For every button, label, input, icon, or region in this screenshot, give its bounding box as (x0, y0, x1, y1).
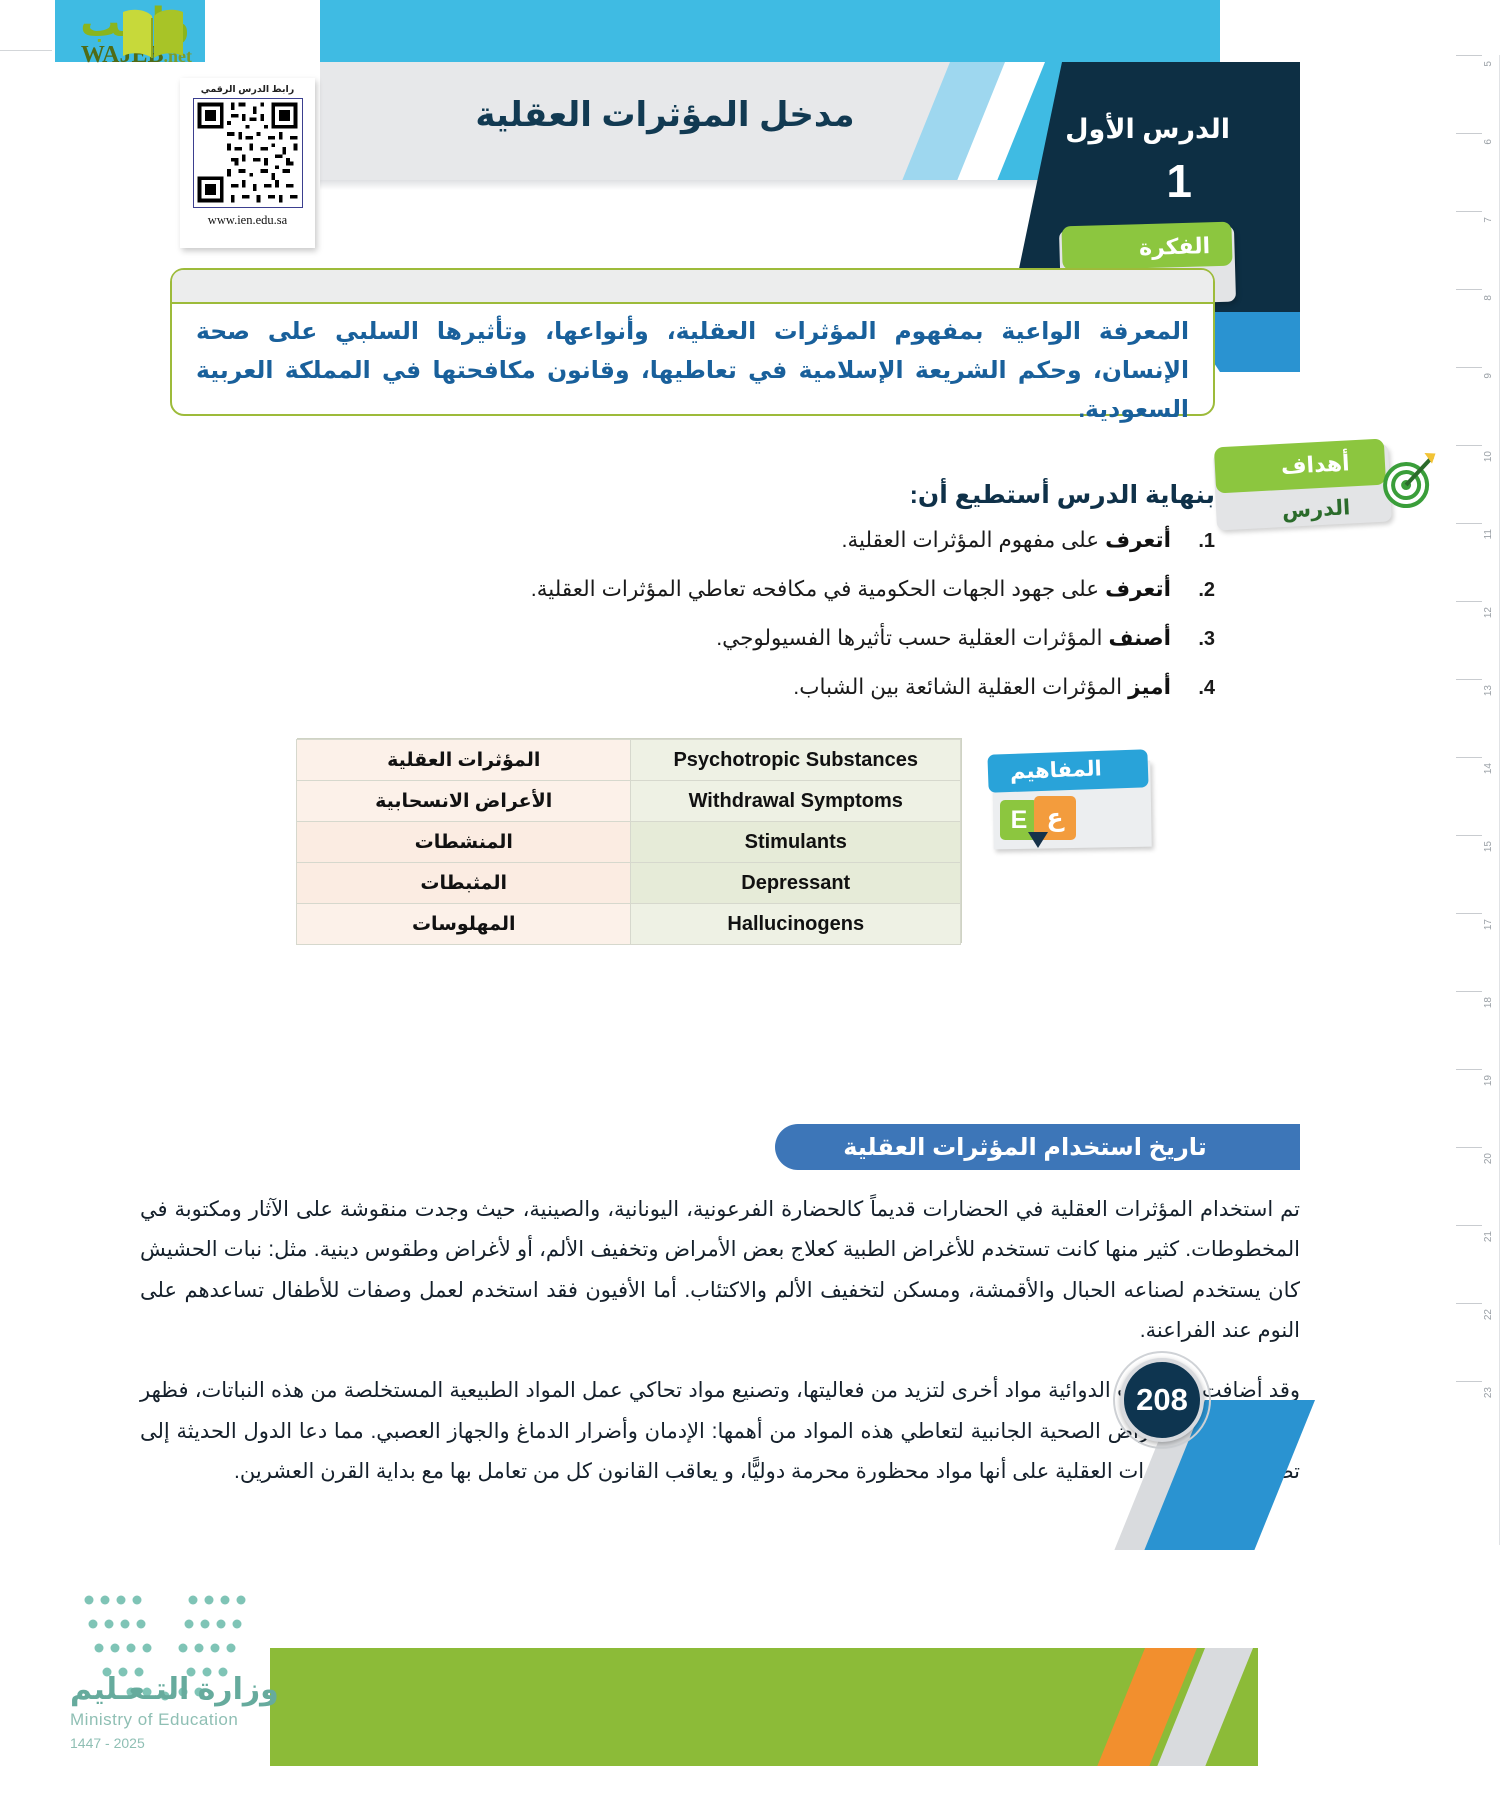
ruler-label: 7 (1483, 217, 1494, 223)
header-band-shadow (320, 180, 1150, 190)
concept-en: Depressant (631, 863, 961, 904)
main-idea-box: المعرفة الواعية بمفهوم المؤثرات العقلية،… (170, 268, 1215, 416)
objectives-tab-line2: الدرس (1281, 495, 1350, 524)
page-number: 208 (1120, 1358, 1204, 1442)
qr-caption: رابط الدرس الرقمي (186, 84, 309, 95)
open-book-icon (118, 6, 188, 64)
ruler-label: 10 (1483, 451, 1494, 462)
top-white-notch (205, 0, 320, 62)
table-row: Hallucinogens المهلوسات (297, 904, 961, 945)
concept-en: Withdrawal Symptoms (631, 781, 961, 822)
objective-text: المؤثرات العقلية الشائعة بين الشباب. (793, 675, 1122, 700)
table-row: Psychotropic Substances المؤثرات العقلية (297, 740, 961, 781)
concepts-badge-label: المفاهيم (1010, 756, 1103, 784)
objective-number: 3. (1181, 628, 1215, 651)
objective-text: على جهود الجهات الحكومية في مكافحه تعاطي… (531, 577, 1099, 602)
objective-item: 1. أتعرف على مفهوم المؤثرات العقلية. (275, 528, 1215, 553)
qr-url: www.ien.edu.sa (186, 213, 309, 228)
objective-number: 1. (1181, 530, 1215, 553)
ruler-label: 6 (1483, 139, 1494, 145)
table-row: Depressant المثبطات (297, 863, 961, 904)
objective-text: المؤثرات العقلية حسب تأثيرها الفسيولوجي. (716, 626, 1102, 651)
left-crop-mark-top (0, 50, 52, 51)
ruler-label: 13 (1483, 685, 1494, 696)
ruler-label: 12 (1483, 607, 1494, 618)
objective-verb: أتعرف (1105, 528, 1171, 553)
ruler-label: 9 (1483, 373, 1494, 379)
ruler-label: 22 (1483, 1309, 1494, 1320)
lesson-kicker: الدرس الأول (1065, 114, 1230, 145)
objective-item: 4. أميز المؤثرات العقلية الشائعة بين الش… (275, 675, 1215, 700)
main-idea-box-header (172, 270, 1213, 304)
concept-en: Psychotropic Substances (631, 740, 961, 781)
ruler-label: 14 (1483, 763, 1494, 774)
ruler-label: 17 (1483, 919, 1494, 930)
concept-ar: المؤثرات العقلية (297, 740, 631, 781)
objective-text: على مفهوم المؤثرات العقلية. (842, 528, 1100, 553)
ruler-label: 11 (1483, 529, 1494, 539)
body-paragraph: تم استخدام المؤثرات العقلية في الحضارات … (140, 1190, 1300, 1351)
ruler-label: 15 (1483, 841, 1494, 852)
qr-code[interactable] (193, 98, 303, 208)
objectives-tab-line1: أهداف (1281, 450, 1351, 480)
concept-en: Hallucinogens (631, 904, 961, 945)
objective-verb: أصنف (1108, 626, 1171, 651)
page-ruler: 5 6 7 8 9 10 11 12 13 14 15 17 18 19 20 … (1445, 55, 1500, 1545)
main-idea-text: المعرفة الواعية بمفهوم المؤثرات العقلية،… (196, 312, 1189, 428)
objective-item: 2. أتعرف على جهود الجهات الحكومية في مكا… (275, 577, 1215, 602)
wajeb-logo: واجب WAJEB.net (0, 2, 200, 72)
body-content: تم استخدام المؤثرات العقلية في الحضارات … (140, 1190, 1300, 1512)
target-icon (1374, 450, 1439, 515)
concept-ar: المنشطات (297, 822, 631, 863)
objectives-list: 1. أتعرف على مفهوم المؤثرات العقلية. 2. … (275, 528, 1215, 724)
concept-ar: المهلوسات (297, 904, 631, 945)
ministry-years: 2025 - 1447 (70, 1735, 145, 1751)
concept-ar: المثبطات (297, 863, 631, 904)
objective-verb: أميز (1128, 675, 1171, 700)
table-row: Withdrawal Symptoms الأعراض الانسحابية (297, 781, 961, 822)
ruler-label: 19 (1483, 1075, 1494, 1086)
ruler-label: 5 (1483, 61, 1494, 67)
objective-verb: أتعرف (1105, 577, 1171, 602)
ruler-label: 21 (1483, 1231, 1494, 1242)
concept-ar: الأعراض الانسحابية (297, 781, 631, 822)
ruler-label: 20 (1483, 1153, 1494, 1164)
objective-item: 3. أصنف المؤثرات العقلية حسب تأثيرها الف… (275, 626, 1215, 651)
page-title: مدخل المؤثرات العقلية (340, 95, 990, 135)
ruler-label: 8 (1483, 295, 1494, 301)
ruler-label: 23 (1483, 1387, 1494, 1398)
table-row: Stimulants المنشطات (297, 822, 961, 863)
badge-pointer-icon (1028, 832, 1048, 848)
digital-lesson-qr-card[interactable]: رابط الدرس الرقمي (180, 78, 315, 248)
concept-en: Stimulants (631, 822, 961, 863)
textbook-page: الدرس الأول 1 مدخل المؤثرات العقلية واجب… (0, 0, 1500, 1800)
footer-white-right (1258, 1648, 1343, 1766)
section-heading: تاريخ استخدام المؤثرات العقلية (775, 1124, 1275, 1170)
concepts-table: Psychotropic Substances المؤثرات العقلية… (297, 738, 962, 943)
objective-number: 2. (1181, 579, 1215, 602)
ministry-name-arabic: وزارة التـعـليم (70, 1672, 279, 1707)
ministry-name-english: Ministry of Education (70, 1710, 238, 1730)
objective-number: 4. (1181, 677, 1215, 700)
ruler-label: 18 (1483, 997, 1494, 1008)
lesson-number: 1 (1166, 154, 1192, 208)
main-idea-tab-line1: الفكرة (1139, 233, 1211, 261)
objectives-intro: بنهاية الدرس أستطيع أن: (910, 480, 1215, 510)
